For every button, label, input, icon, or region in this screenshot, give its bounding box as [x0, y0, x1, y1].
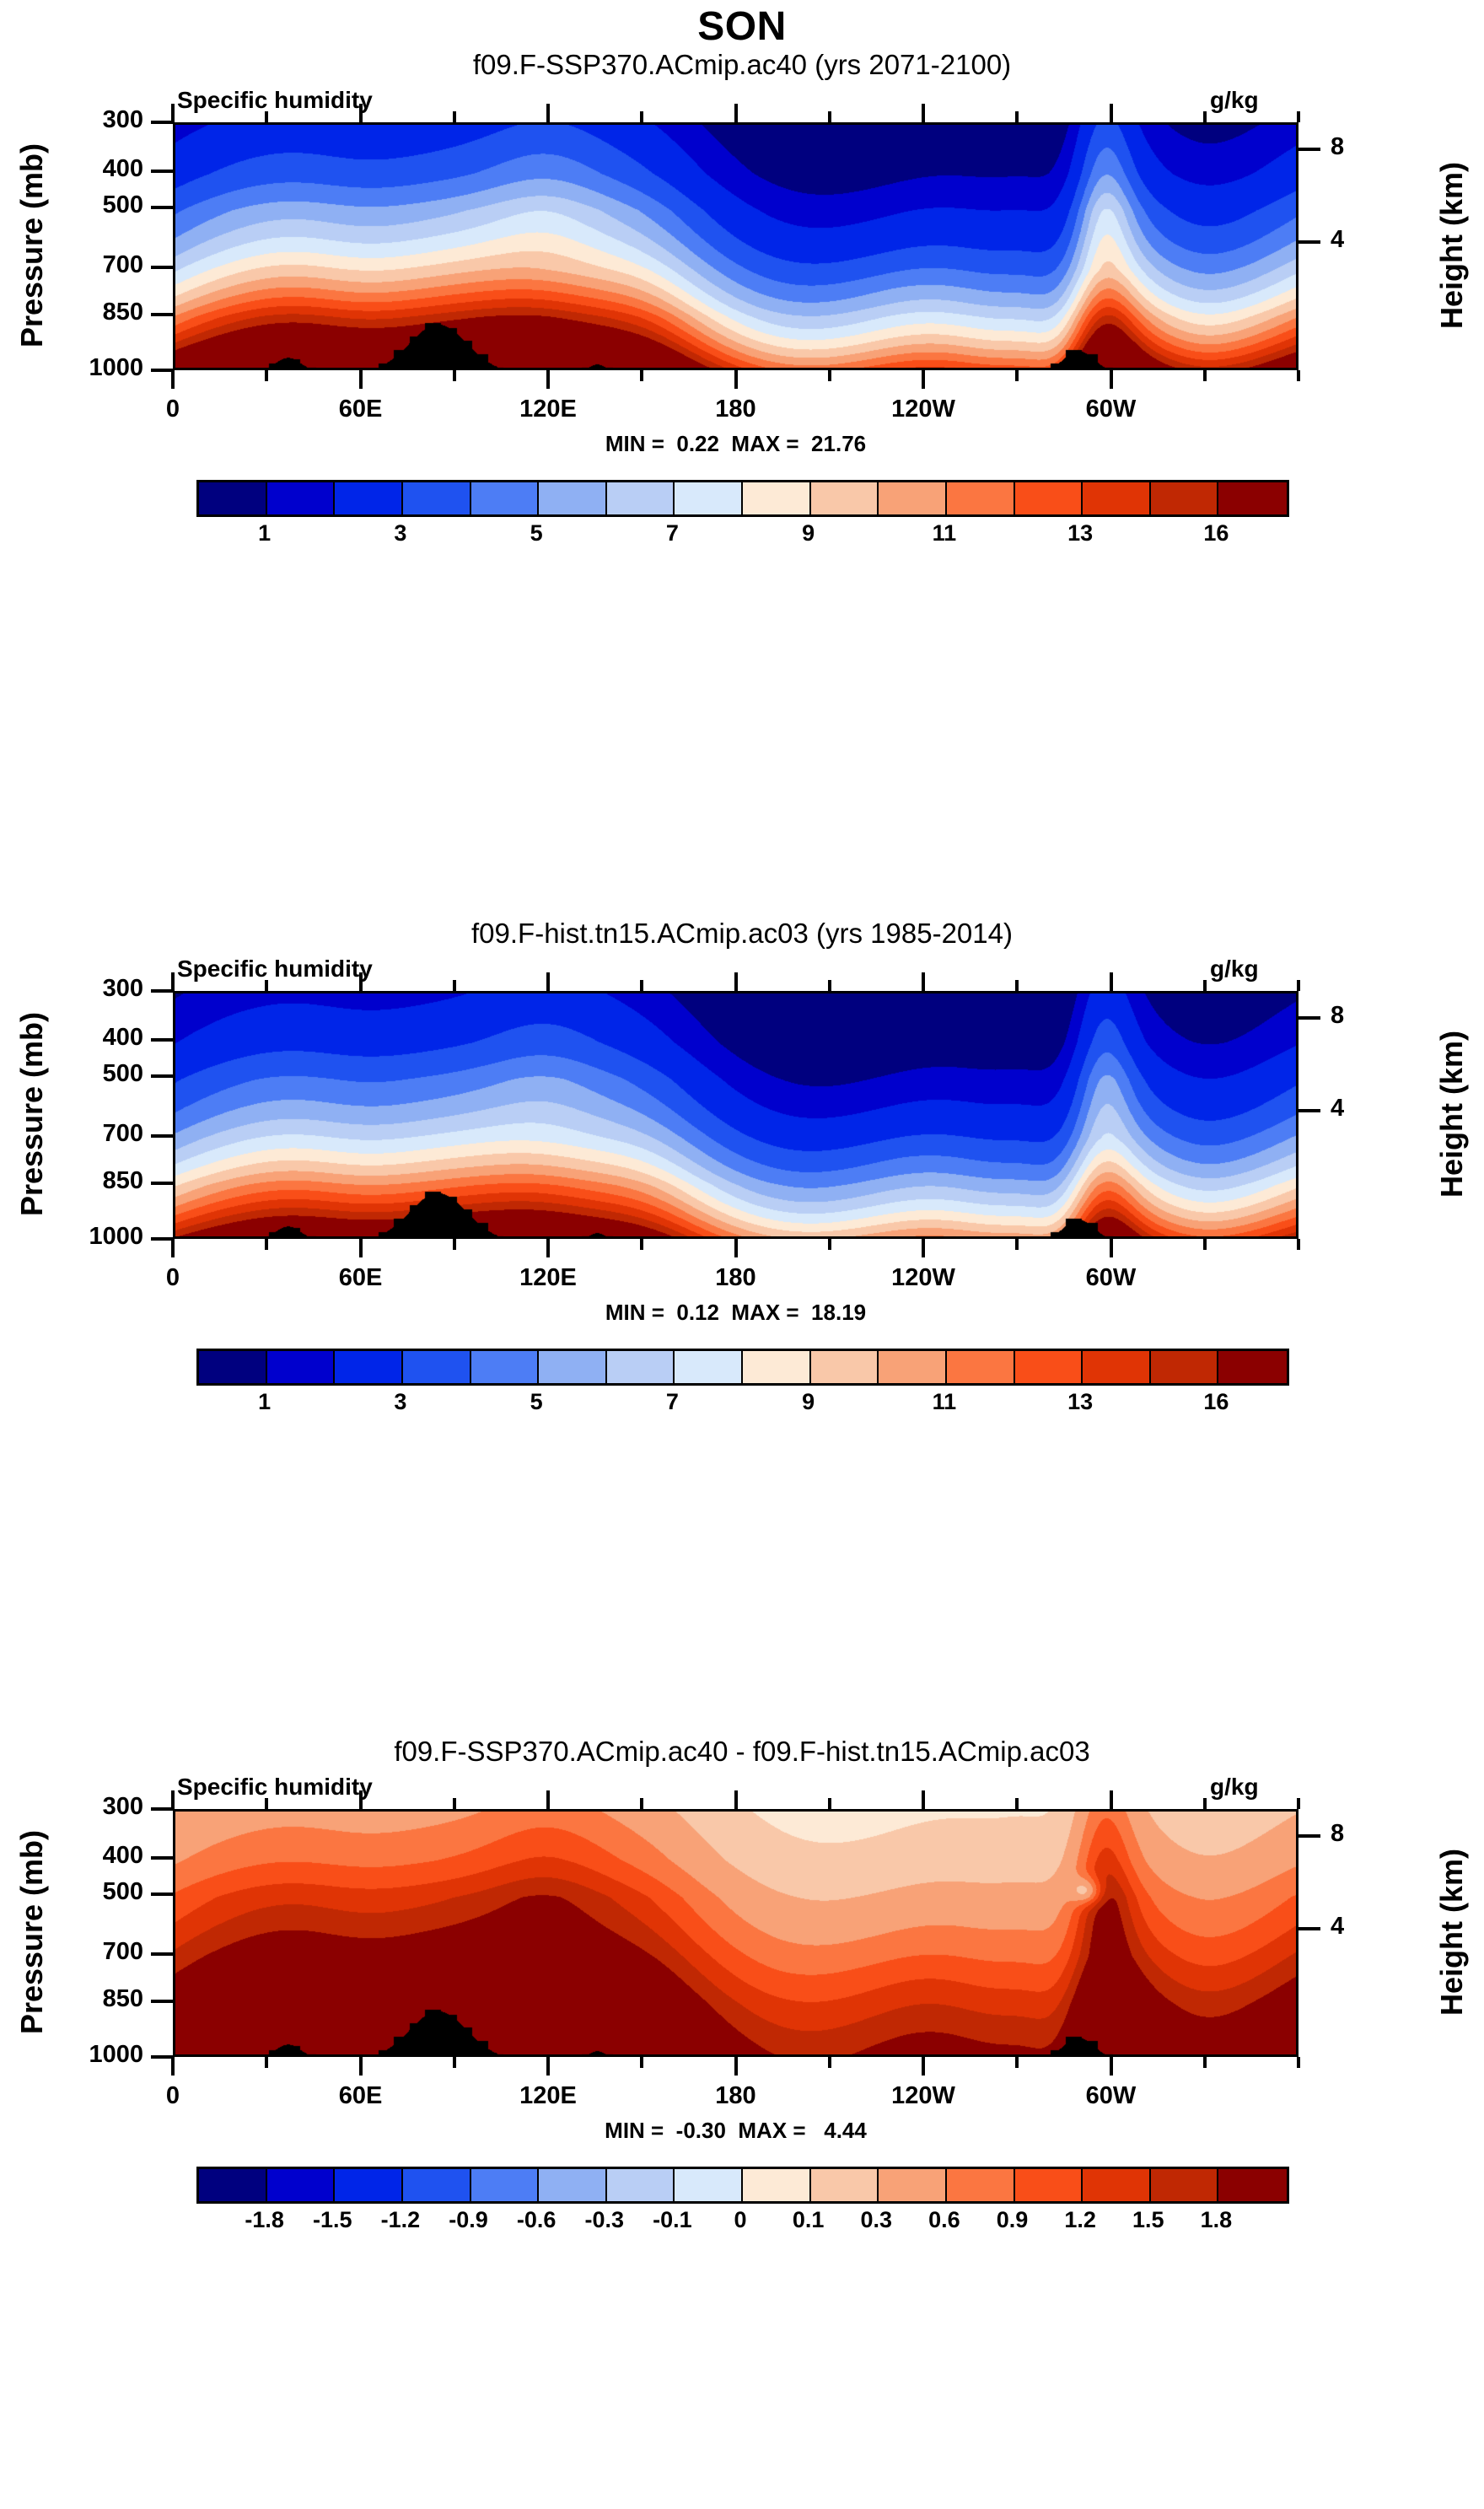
x-major-tick — [922, 1239, 925, 1257]
x-major-tick — [922, 104, 925, 122]
y-tick-mark — [151, 1182, 173, 1185]
colorbar-swatch[interactable] — [199, 482, 267, 514]
y-tick-label: 300 — [25, 975, 143, 1003]
x-minor-tick — [1015, 111, 1019, 122]
y-tick-mark — [151, 313, 173, 316]
y-tick-label: 500 — [25, 1878, 143, 1906]
colorbar-swatch[interactable] — [675, 2169, 743, 2201]
x-tick-label: 180 — [677, 1264, 795, 1292]
colorbar-swatch[interactable] — [675, 1351, 743, 1383]
x-minor-tick — [640, 1239, 643, 1250]
minmax-text: MIN = 0.12 MAX = 18.19 — [173, 1300, 1298, 1326]
x-tick-label: 60W — [1052, 2082, 1170, 2110]
colorbar-tick-label: 7 — [630, 1389, 714, 1415]
x-minor-tick — [453, 1798, 456, 1809]
x-tick-label: 60E — [302, 1264, 420, 1292]
x-minor-tick — [1203, 2057, 1207, 2068]
x-major-tick — [1110, 972, 1113, 991]
x-major-tick — [922, 2057, 925, 2076]
colorbar-swatch[interactable] — [879, 2169, 947, 2201]
colorbar-swatch[interactable] — [947, 482, 1015, 514]
x-major-tick — [1110, 1790, 1113, 1809]
x-tick-label: 60E — [302, 2082, 420, 2110]
y-tick-label: 400 — [25, 155, 143, 183]
x-major-tick — [734, 2057, 738, 2076]
y2-axis-label: Height (km) — [1434, 1808, 1470, 2056]
colorbar-swatch[interactable] — [947, 2169, 1015, 2201]
x-major-tick — [171, 1790, 175, 1809]
colorbar-swatch[interactable] — [335, 482, 403, 514]
y-tick-mark — [151, 1038, 173, 1042]
x-major-tick — [546, 2057, 550, 2076]
x-minor-tick — [1015, 1239, 1019, 1250]
colorbar-swatch[interactable] — [335, 2169, 403, 2201]
colorbar-swatch[interactable] — [1083, 2169, 1151, 2201]
colorbar-tick-label: 9 — [766, 1389, 851, 1415]
y-tick-label: 1000 — [25, 1223, 143, 1251]
x-minor-tick — [265, 111, 268, 122]
y2-tick-mark — [1298, 1927, 1320, 1930]
y-tick-mark — [151, 266, 173, 269]
variable-label: Specific humidity — [177, 87, 373, 114]
colorbar-swatch[interactable] — [471, 1351, 540, 1383]
x-tick-label: 0 — [114, 1264, 232, 1292]
panel-title: f09.F-SSP370.ACmip.ac40 (yrs 2071-2100) — [0, 49, 1484, 81]
colorbar-swatch[interactable] — [743, 482, 811, 514]
colorbar-tick-label: 3 — [358, 520, 443, 546]
colorbar-tick-label: 13 — [1038, 520, 1122, 546]
x-minor-tick — [828, 370, 831, 381]
x-major-tick — [734, 370, 738, 389]
x-major-tick — [546, 370, 550, 389]
colorbar-swatch[interactable] — [539, 2169, 607, 2201]
panel-title: f09.F-SSP370.ACmip.ac40 - f09.F-hist.tn1… — [0, 1736, 1484, 1768]
x-major-tick — [171, 370, 175, 389]
y2-tick-label: 8 — [1331, 133, 1381, 161]
x-tick-label: 120E — [489, 396, 607, 423]
colorbar-swatch[interactable] — [811, 482, 879, 514]
colorbar-swatch[interactable] — [1015, 2169, 1083, 2201]
colorbar-swatch[interactable] — [1151, 1351, 1219, 1383]
y-tick-mark — [151, 1893, 173, 1896]
x-minor-tick — [1297, 980, 1300, 991]
x-major-tick — [734, 104, 738, 122]
colorbar-tick-label: 1 — [223, 1389, 307, 1415]
colorbar-swatch[interactable] — [607, 482, 675, 514]
x-major-tick — [546, 104, 550, 122]
y-tick-mark — [151, 1237, 173, 1241]
x-tick-label: 180 — [677, 2082, 795, 2110]
x-tick-label: 0 — [114, 2082, 232, 2110]
y-tick-label: 1000 — [25, 2041, 143, 2069]
x-tick-label: 120W — [864, 396, 982, 423]
x-minor-tick — [453, 111, 456, 122]
colorbar-swatch[interactable] — [471, 482, 540, 514]
contour-plot-area — [173, 122, 1298, 370]
colorbar-swatch[interactable] — [811, 1351, 879, 1383]
y2-tick-mark — [1298, 1834, 1320, 1838]
y-tick-mark — [151, 2055, 173, 2059]
y-tick-mark — [151, 2000, 173, 2003]
colorbar-swatch[interactable] — [199, 2169, 267, 2201]
y-tick-label: 500 — [25, 191, 143, 219]
colorbar-tick-label: 1 — [223, 520, 307, 546]
colorbar-swatch[interactable] — [1015, 482, 1083, 514]
x-major-tick — [546, 972, 550, 991]
y-tick-label: 400 — [25, 1842, 143, 1870]
colorbar-swatch[interactable] — [811, 2169, 879, 2201]
x-minor-tick — [1297, 111, 1300, 122]
colorbar-swatch[interactable] — [403, 2169, 471, 2201]
colorbar-swatch[interactable] — [947, 1351, 1015, 1383]
x-major-tick — [734, 972, 738, 991]
x-minor-tick — [1015, 980, 1019, 991]
minmax-text: MIN = -0.30 MAX = 4.44 — [173, 2118, 1298, 2144]
colorbar-tick-label: 16 — [1174, 1389, 1258, 1415]
y-tick-label: 700 — [25, 1120, 143, 1148]
variable-label: Specific humidity — [177, 1774, 373, 1801]
colorbar-swatch[interactable] — [607, 1351, 675, 1383]
x-tick-label: 120W — [864, 1264, 982, 1292]
x-major-tick — [546, 1790, 550, 1809]
y2-tick-label: 8 — [1331, 1002, 1381, 1030]
y2-axis-label: Height (km) — [1434, 121, 1470, 369]
colorbar-swatch[interactable] — [335, 1351, 403, 1383]
colorbar-tick-label: 9 — [766, 520, 851, 546]
y-tick-mark — [151, 1074, 173, 1078]
panel-title: f09.F-hist.tn15.ACmip.ac03 (yrs 1985-201… — [0, 918, 1484, 950]
units-label: g/kg — [1210, 956, 1259, 983]
y-tick-label: 700 — [25, 251, 143, 279]
x-minor-tick — [640, 1798, 643, 1809]
colorbar-swatch[interactable] — [879, 482, 947, 514]
y2-axis-label: Height (km) — [1434, 990, 1470, 1238]
contour-plot-area — [173, 1809, 1298, 2057]
minmax-text: MIN = 0.22 MAX = 21.76 — [173, 431, 1298, 457]
y2-tick-label: 8 — [1331, 1820, 1381, 1848]
x-minor-tick — [265, 370, 268, 381]
colorbar-tick-label: 3 — [358, 1389, 443, 1415]
x-major-tick — [1110, 1239, 1113, 1257]
y-tick-mark — [151, 1952, 173, 1956]
y-tick-mark — [151, 170, 173, 173]
colorbar-swatch[interactable] — [1015, 1351, 1083, 1383]
y-tick-label: 850 — [25, 1985, 143, 2013]
y-tick-label: 500 — [25, 1060, 143, 1088]
colorbar-swatch[interactable] — [743, 2169, 811, 2201]
colorbar-swatch[interactable] — [267, 2169, 336, 2201]
x-major-tick — [1110, 2057, 1113, 2076]
x-major-tick — [922, 1790, 925, 1809]
x-minor-tick — [1015, 370, 1019, 381]
colorbar-swatch[interactable] — [1083, 1351, 1151, 1383]
x-major-tick — [359, 104, 363, 122]
x-minor-tick — [640, 980, 643, 991]
x-minor-tick — [1203, 370, 1207, 381]
y-tick-mark — [151, 369, 173, 372]
colorbar-tick-label: 16 — [1174, 520, 1258, 546]
x-major-tick — [734, 1239, 738, 1257]
colorbar-tick-label: 11 — [902, 1389, 987, 1415]
colorbar-swatch[interactable] — [1218, 1351, 1287, 1383]
x-major-tick — [546, 1239, 550, 1257]
x-minor-tick — [828, 980, 831, 991]
colorbar-swatch[interactable] — [403, 482, 471, 514]
x-minor-tick — [828, 1798, 831, 1809]
x-minor-tick — [1297, 2057, 1300, 2068]
x-major-tick — [359, 972, 363, 991]
y-tick-label: 850 — [25, 1167, 143, 1195]
colorbar-swatch[interactable] — [607, 2169, 675, 2201]
colorbar-swatch[interactable] — [539, 1351, 607, 1383]
x-minor-tick — [1015, 1798, 1019, 1809]
colorbar-swatch[interactable] — [1151, 482, 1219, 514]
colorbar-swatch[interactable] — [1151, 2169, 1219, 2201]
y2-tick-label: 4 — [1331, 226, 1381, 254]
x-minor-tick — [1297, 370, 1300, 381]
x-minor-tick — [1297, 1798, 1300, 1809]
y-tick-label: 300 — [25, 1793, 143, 1821]
x-minor-tick — [453, 980, 456, 991]
colorbar-tick-label: 7 — [630, 520, 714, 546]
colorbar-swatch[interactable] — [1083, 482, 1151, 514]
x-minor-tick — [453, 370, 456, 381]
x-major-tick — [171, 2057, 175, 2076]
units-label: g/kg — [1210, 1774, 1259, 1801]
x-minor-tick — [1297, 1239, 1300, 1250]
colorbar-swatch[interactable] — [879, 1351, 947, 1383]
y-tick-mark — [151, 206, 173, 209]
x-minor-tick — [265, 2057, 268, 2068]
x-major-tick — [1110, 104, 1113, 122]
colorbar-tick-label: 13 — [1038, 1389, 1122, 1415]
x-minor-tick — [1203, 980, 1207, 991]
y-tick-mark — [151, 1807, 173, 1811]
x-major-tick — [359, 1239, 363, 1257]
x-minor-tick — [828, 2057, 831, 2068]
colorbar[interactable] — [196, 480, 1289, 517]
x-minor-tick — [828, 111, 831, 122]
colorbar-tick-label: 5 — [494, 520, 578, 546]
x-minor-tick — [1203, 111, 1207, 122]
x-tick-label: 60E — [302, 396, 420, 423]
colorbar-swatch[interactable] — [1218, 2169, 1287, 2201]
x-minor-tick — [828, 1239, 831, 1250]
x-tick-label: 60W — [1052, 1264, 1170, 1292]
y-tick-label: 400 — [25, 1024, 143, 1052]
colorbar-swatch[interactable] — [743, 1351, 811, 1383]
x-minor-tick — [1203, 1798, 1207, 1809]
y-tick-label: 1000 — [25, 354, 143, 382]
x-tick-label: 180 — [677, 396, 795, 423]
colorbar-swatch[interactable] — [1218, 482, 1287, 514]
x-major-tick — [171, 1239, 175, 1257]
y2-tick-label: 4 — [1331, 1913, 1381, 1941]
y2-tick-mark — [1298, 1016, 1320, 1020]
y-tick-label: 300 — [25, 106, 143, 134]
colorbar[interactable] — [196, 2167, 1289, 2204]
x-minor-tick — [1015, 2057, 1019, 2068]
colorbar-swatch[interactable] — [471, 2169, 540, 2201]
x-major-tick — [171, 104, 175, 122]
y-tick-mark — [151, 1134, 173, 1138]
figure-title: SON — [0, 3, 1484, 50]
x-minor-tick — [640, 111, 643, 122]
x-minor-tick — [265, 1798, 268, 1809]
x-minor-tick — [640, 2057, 643, 2068]
x-tick-label: 60W — [1052, 396, 1170, 423]
colorbar-swatch[interactable] — [675, 482, 743, 514]
x-minor-tick — [1203, 1239, 1207, 1250]
y-tick-label: 700 — [25, 1938, 143, 1966]
colorbar-swatch[interactable] — [267, 482, 336, 514]
x-tick-label: 0 — [114, 396, 232, 423]
y-tick-label: 850 — [25, 299, 143, 326]
x-major-tick — [359, 2057, 363, 2076]
x-minor-tick — [453, 1239, 456, 1250]
y2-tick-mark — [1298, 240, 1320, 244]
colorbar-swatch[interactable] — [539, 482, 607, 514]
x-major-tick — [734, 1790, 738, 1809]
y-tick-mark — [151, 1856, 173, 1860]
x-tick-label: 120E — [489, 2082, 607, 2110]
x-major-tick — [359, 1790, 363, 1809]
y2-tick-mark — [1298, 1109, 1320, 1112]
colorbar-swatch[interactable] — [199, 1351, 267, 1383]
x-tick-label: 120E — [489, 1264, 607, 1292]
x-major-tick — [922, 972, 925, 991]
colorbar-swatch[interactable] — [403, 1351, 471, 1383]
contour-plot-area — [173, 991, 1298, 1239]
variable-label: Specific humidity — [177, 956, 373, 983]
colorbar-tick-label: 1.8 — [1174, 2207, 1258, 2233]
y2-tick-mark — [1298, 148, 1320, 151]
x-major-tick — [171, 972, 175, 991]
y-tick-mark — [151, 989, 173, 993]
colorbar-swatch[interactable] — [267, 1351, 336, 1383]
x-tick-label: 120W — [864, 2082, 982, 2110]
x-major-tick — [1110, 370, 1113, 389]
y-tick-mark — [151, 121, 173, 124]
colorbar[interactable] — [196, 1349, 1289, 1386]
units-label: g/kg — [1210, 87, 1259, 114]
x-minor-tick — [265, 980, 268, 991]
y2-tick-label: 4 — [1331, 1095, 1381, 1123]
x-major-tick — [359, 370, 363, 389]
x-minor-tick — [453, 2057, 456, 2068]
colorbar-tick-label: 11 — [902, 520, 987, 546]
x-minor-tick — [265, 1239, 268, 1250]
colorbar-tick-label: 5 — [494, 1389, 578, 1415]
x-major-tick — [922, 370, 925, 389]
x-minor-tick — [640, 370, 643, 381]
